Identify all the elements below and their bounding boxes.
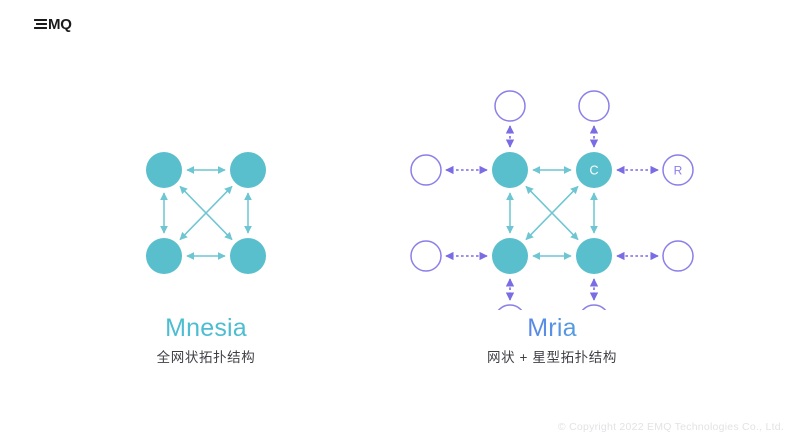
satellite-node bbox=[495, 305, 525, 310]
caption-mria: Mria 网状 + 星型拓扑结构 bbox=[382, 312, 722, 369]
diagram-mnesia bbox=[36, 80, 376, 310]
core-node-circle bbox=[576, 238, 612, 274]
core-node: C bbox=[576, 152, 612, 188]
subtitle-mnesia: 全网状拓扑结构 bbox=[36, 347, 376, 369]
core-node-circle bbox=[230, 238, 266, 274]
core-node-circle bbox=[146, 238, 182, 274]
mnesia-topology-graph bbox=[36, 80, 376, 310]
subtitle-mria: 网状 + 星型拓扑结构 bbox=[382, 347, 722, 369]
satellite-node-circle bbox=[579, 305, 609, 310]
satellite-node-circle bbox=[495, 305, 525, 310]
core-node bbox=[492, 152, 528, 188]
mria-topology-graph: CR bbox=[382, 80, 722, 310]
core-node bbox=[576, 238, 612, 274]
satellite-node bbox=[411, 155, 441, 185]
satellite-node-circle bbox=[663, 241, 693, 271]
copyright-footer: © Copyright 2022 EMQ Technologies Co., L… bbox=[558, 421, 784, 433]
core-node bbox=[230, 238, 266, 274]
core-node-circle bbox=[492, 152, 528, 188]
core-node-circle bbox=[492, 238, 528, 274]
core-node bbox=[230, 152, 266, 188]
emq-logo: MQ bbox=[34, 14, 72, 34]
satellite-node bbox=[663, 241, 693, 271]
satellite-node bbox=[495, 91, 525, 121]
diagram-mria: CR bbox=[382, 80, 722, 310]
panel-mria: CR Mria 网状 + 星型拓扑结构 bbox=[382, 80, 722, 380]
panel-mnesia: Mnesia 全网状拓扑结构 bbox=[36, 80, 376, 380]
links-layer bbox=[164, 170, 248, 256]
core-node bbox=[146, 152, 182, 188]
satellite-node-circle bbox=[411, 241, 441, 271]
satellite-node-label: R bbox=[674, 164, 683, 178]
core-node-label: C bbox=[589, 164, 598, 178]
nodes-layer: CR bbox=[411, 91, 693, 310]
satellite-node: R bbox=[663, 155, 693, 185]
satellite-node-circle bbox=[495, 91, 525, 121]
core-node-circle bbox=[146, 152, 182, 188]
satellite-node-circle bbox=[579, 91, 609, 121]
satellite-node bbox=[579, 305, 609, 310]
title-mnesia: Mnesia bbox=[36, 312, 376, 344]
caption-mnesia: Mnesia 全网状拓扑结构 bbox=[36, 312, 376, 369]
core-node bbox=[146, 238, 182, 274]
core-node bbox=[492, 238, 528, 274]
satellite-node-circle bbox=[411, 155, 441, 185]
emq-logo-text: MQ bbox=[48, 17, 72, 32]
satellite-node bbox=[411, 241, 441, 271]
title-mria: Mria bbox=[382, 312, 722, 344]
emq-bars-icon bbox=[34, 19, 47, 29]
satellite-node bbox=[579, 91, 609, 121]
core-node-circle bbox=[230, 152, 266, 188]
links-layer bbox=[446, 126, 658, 300]
